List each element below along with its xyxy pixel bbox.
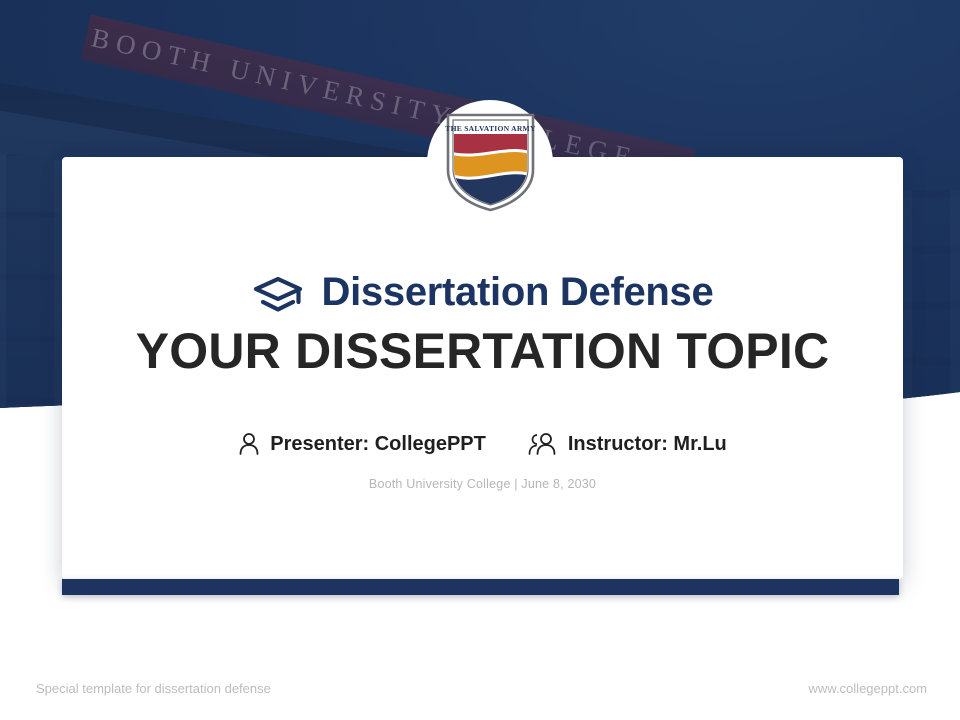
instructor-item: Instructor: Mr.Lu [528, 432, 727, 456]
presenter-label: Presenter: CollegePPT [270, 433, 486, 456]
presenter-item: Presenter: CollegePPT [238, 432, 486, 456]
people-row: Presenter: CollegePPT Instructor: Mr.Lu [238, 432, 727, 456]
title-slide: BOOTH UNIVERSITY COLLEGE THE SALVATION A… [0, 0, 960, 720]
footer-left-text: Special template for dissertation defens… [36, 681, 271, 696]
instructor-label: Instructor: Mr.Lu [568, 433, 727, 456]
card-accent-bar [62, 579, 899, 595]
slide-subtitle: YOUR DISSERTATION TOPIC [136, 322, 830, 380]
slide-title: Dissertation Defense [322, 270, 714, 315]
footer-right-text: www.collegeppt.com [809, 681, 928, 696]
slide-meta: Booth University College | June 8, 2030 [369, 477, 596, 491]
people-icon [528, 432, 558, 456]
graduation-cap-icon [252, 275, 304, 315]
crest-motto: THE SALVATION ARMY [445, 124, 536, 133]
person-icon [238, 432, 260, 456]
title-row: Dissertation Defense [252, 270, 714, 315]
card-content: Dissertation Defense YOUR DISSERTATION T… [62, 157, 903, 579]
